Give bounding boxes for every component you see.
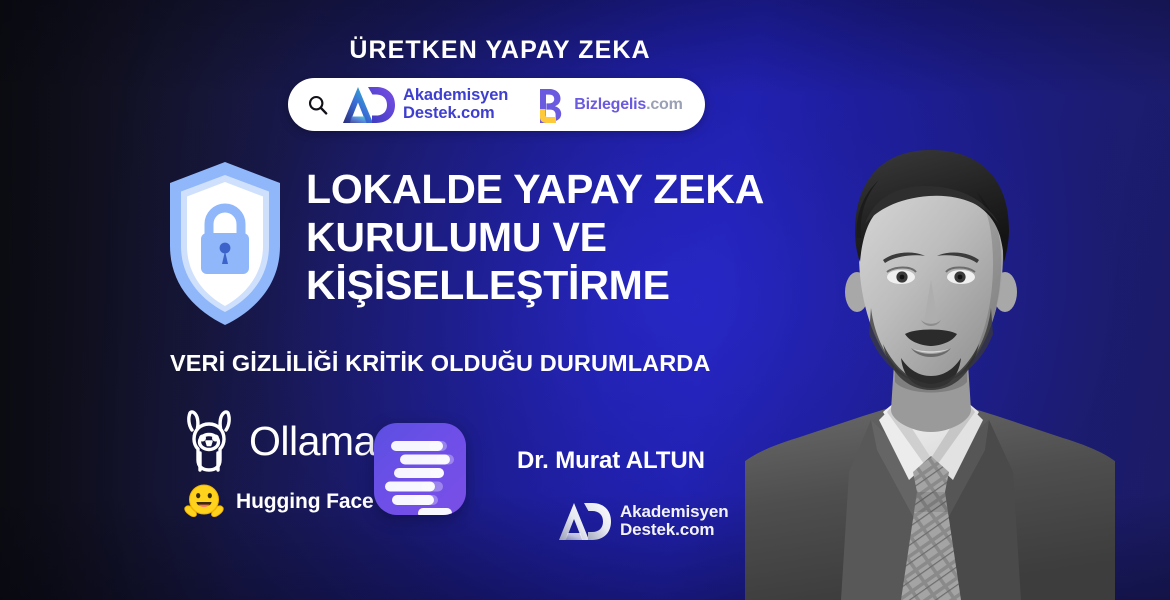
footer-brand-line1: Akademisyen [620,503,729,521]
ollama-llama-icon [178,408,240,474]
anythingllm-app-icon [374,423,466,515]
bizlegelis-logo[interactable]: Bizlegelis.com [534,87,682,123]
speaker-name: Dr. Murat ALTUN [517,447,705,475]
anythingllm-bars-icon [374,423,466,515]
ollama-logo: Ollama [178,408,376,474]
search-pill[interactable]: Akademisyen Destek.com Bizlegelis.com [288,78,705,131]
ollama-label: Ollama [249,418,376,465]
footer-brand-logo: Akademisyen Destek.com [558,500,729,542]
ad-wordmark: Akademisyen Destek.com [403,87,508,121]
kicker-text: ÜRETKEN YAPAY ZEKA [0,38,1000,63]
ad-monogram-icon [342,85,398,125]
bizlegelis-wordmark: Bizlegelis.com [574,96,682,114]
ad-wordmark-line2: Destek.com [403,105,508,122]
footer-brand-wordmark: Akademisyen Destek.com [620,503,729,538]
bizlegelis-name: Bizlegelis [574,96,646,113]
bizlegelis-tld: .com [646,96,683,113]
speaker-portrait [745,120,1115,600]
footer-brand-line2: Destek.com [620,521,729,539]
subtitle-text: VERİ GİZLİLİĞİ KRİTİK OLDUĞU DURUMLARDA [170,350,710,377]
shield-lock-icon [160,158,290,330]
promo-banner: ÜRETKEN YAPAY ZEKA [0,0,1170,600]
ad-monogram-icon [558,500,614,542]
bizlegelis-b-icon [534,87,566,123]
search-icon[interactable] [306,93,330,117]
akademisyen-destek-logo[interactable]: Akademisyen Destek.com [342,85,508,125]
hugging-face-label: Hugging Face [236,490,374,514]
hugging-face-emoji-icon [182,482,226,522]
pill-brand-row: Akademisyen Destek.com Bizlegelis.com [342,85,683,125]
ad-wordmark-line1: Akademisyen [403,87,508,104]
hugging-face-logo: Hugging Face [182,482,374,522]
